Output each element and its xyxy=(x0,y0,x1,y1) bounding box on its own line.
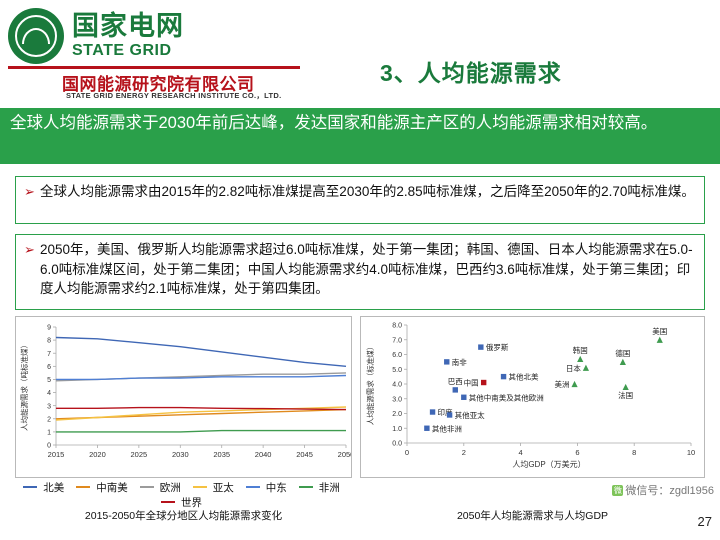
svg-text:法国: 法国 xyxy=(618,390,633,400)
svg-text:9: 9 xyxy=(47,325,51,332)
scatter-chart-energy-vs-gdp: 0.01.02.03.04.05.06.07.08.00246810人均GDP（… xyxy=(360,316,705,478)
right-chart-caption: 2050年人均能源需求与人均GDP xyxy=(360,508,705,523)
svg-text:3.0: 3.0 xyxy=(392,396,402,403)
svg-text:3: 3 xyxy=(47,403,51,410)
svg-text:4.0: 4.0 xyxy=(392,382,402,389)
svg-text:5.0: 5.0 xyxy=(392,367,402,374)
svg-text:其他北美: 其他北美 xyxy=(509,372,539,382)
svg-text:其他非洲: 其他非洲 xyxy=(432,423,462,433)
left-chart-caption: 2015-2050年全球分地区人均能源需求变化 xyxy=(15,508,352,523)
wechat-icon: 微 xyxy=(612,485,623,496)
page-number: 27 xyxy=(698,514,712,529)
legend-swatch xyxy=(246,486,260,488)
svg-text:0: 0 xyxy=(405,448,409,457)
svg-text:6: 6 xyxy=(47,364,51,371)
svg-text:10: 10 xyxy=(687,448,695,457)
svg-text:1.0: 1.0 xyxy=(392,426,402,433)
svg-text:南非: 南非 xyxy=(452,357,467,367)
svg-text:2045: 2045 xyxy=(296,450,313,459)
svg-text:2025: 2025 xyxy=(131,450,148,459)
svg-text:美洲: 美洲 xyxy=(555,379,570,389)
svg-text:人均能源需求（吨标准煤）: 人均能源需求（吨标准煤） xyxy=(19,341,29,431)
svg-text:8: 8 xyxy=(632,448,636,457)
svg-text:其他中南美及其他欧洲: 其他中南美及其他欧洲 xyxy=(469,392,544,402)
svg-text:7.0: 7.0 xyxy=(392,337,402,344)
summary-banner: 全球人均能源需求于2030年前后达峰，发达国家和能源主产区的人均能源需求相对较高… xyxy=(0,108,720,164)
line-chart-svg: 0123456789201520202025203020352040204520… xyxy=(16,317,351,477)
svg-text:1: 1 xyxy=(47,429,51,436)
legend-label: 北美 xyxy=(43,482,64,494)
svg-text:2040: 2040 xyxy=(255,450,272,459)
svg-text:8.0: 8.0 xyxy=(392,323,402,330)
svg-text:巴西: 巴西 xyxy=(448,377,463,386)
legend-swatch xyxy=(23,486,37,488)
legend-label: 欧洲 xyxy=(160,482,181,494)
legend-item-欧洲: 欧洲 xyxy=(140,482,185,494)
legend-swatch xyxy=(140,486,154,488)
legend-item-中南美: 中南美 xyxy=(76,482,132,494)
svg-text:2: 2 xyxy=(47,416,51,423)
svg-text:人均GDP（万美元）: 人均GDP（万美元） xyxy=(512,459,585,469)
svg-text:俄罗斯: 俄罗斯 xyxy=(486,342,509,352)
svg-text:德国: 德国 xyxy=(615,348,630,358)
bullet-text-1: 全球人均能源需求由2015年的2.82吨标准煤提高至2030年的2.85吨标准煤… xyxy=(40,182,695,202)
svg-text:2030: 2030 xyxy=(172,450,189,459)
legend-swatch xyxy=(193,486,207,488)
svg-text:韩国: 韩国 xyxy=(573,345,588,355)
line-chart-per-capita-energy: 0123456789201520202025203020352040204520… xyxy=(15,316,352,478)
page-title: 3、人均能源需求 xyxy=(380,54,562,88)
svg-text:8: 8 xyxy=(47,338,51,345)
legend-swatch xyxy=(161,501,175,503)
legend-item-北美: 北美 xyxy=(23,482,68,494)
bullet-box-2: ➢ 2050年，美国、俄罗斯人均能源需求超过6.0吨标准煤，处于第一集团；韩国、… xyxy=(15,234,705,310)
bullet-box-1: ➢ 全球人均能源需求由2015年的2.82吨标准煤提高至2030年的2.85吨标… xyxy=(15,176,705,224)
svg-text:中国: 中国 xyxy=(464,378,479,388)
bullet-arrow-icon: ➢ xyxy=(24,240,40,259)
legend-swatch xyxy=(76,486,90,488)
svg-text:6.0: 6.0 xyxy=(392,352,402,359)
svg-text:2035: 2035 xyxy=(213,450,230,459)
legend-item-中东: 中东 xyxy=(246,482,291,494)
svg-text:2015: 2015 xyxy=(48,450,65,459)
watermark-text: 微信号：zgdl1956 xyxy=(625,485,714,497)
svg-text:6: 6 xyxy=(575,448,579,457)
bullet-text-2: 2050年，美国、俄罗斯人均能源需求超过6.0吨标准煤，处于第一集团；韩国、德国… xyxy=(40,240,696,299)
logo-title-en: STATE GRID xyxy=(72,43,184,59)
svg-text:日本: 日本 xyxy=(566,363,581,373)
svg-text:4: 4 xyxy=(519,448,523,457)
svg-text:2020: 2020 xyxy=(89,450,106,459)
svg-text:2: 2 xyxy=(462,448,466,457)
scatter-chart-svg: 0.01.02.03.04.05.06.07.08.00246810人均GDP（… xyxy=(361,317,704,477)
svg-text:2050: 2050 xyxy=(338,450,351,459)
svg-text:5: 5 xyxy=(47,377,51,384)
legend-label: 非洲 xyxy=(319,482,340,494)
bullet-arrow-icon: ➢ xyxy=(24,182,40,201)
svg-text:2.0: 2.0 xyxy=(392,411,402,418)
state-grid-emblem-icon xyxy=(8,8,64,64)
legend-item-非洲: 非洲 xyxy=(299,482,344,494)
institute-name-en: STATE GRID ENERGY RESEARCH INSTITUTE CO.… xyxy=(66,90,281,101)
logo-title-cn: 国家电网 xyxy=(72,13,184,40)
svg-text:4: 4 xyxy=(47,390,51,397)
svg-text:其他亚太: 其他亚太 xyxy=(455,410,485,420)
svg-text:7: 7 xyxy=(47,351,51,358)
header-divider xyxy=(8,66,300,69)
svg-text:美国: 美国 xyxy=(652,326,667,336)
watermark: 微微信号：zgdl1956 xyxy=(612,482,714,498)
legend-label: 中东 xyxy=(266,482,287,494)
line-chart-legend: 北美中南美欧洲亚太中东非洲世界 xyxy=(15,480,352,510)
state-grid-logo: 国家电网 STATE GRID xyxy=(8,8,184,64)
svg-text:人均能源需求（标准煤）: 人均能源需求（标准煤） xyxy=(365,343,375,426)
svg-text:0.0: 0.0 xyxy=(392,441,402,448)
svg-text:0: 0 xyxy=(47,443,51,450)
slide-header: 国家电网 STATE GRID 国网能源研究院有限公司 STATE GRID E… xyxy=(0,0,720,100)
legend-label: 亚太 xyxy=(213,482,234,494)
legend-item-亚太: 亚太 xyxy=(193,482,238,494)
legend-swatch xyxy=(299,486,313,488)
legend-label: 中南美 xyxy=(96,482,128,494)
